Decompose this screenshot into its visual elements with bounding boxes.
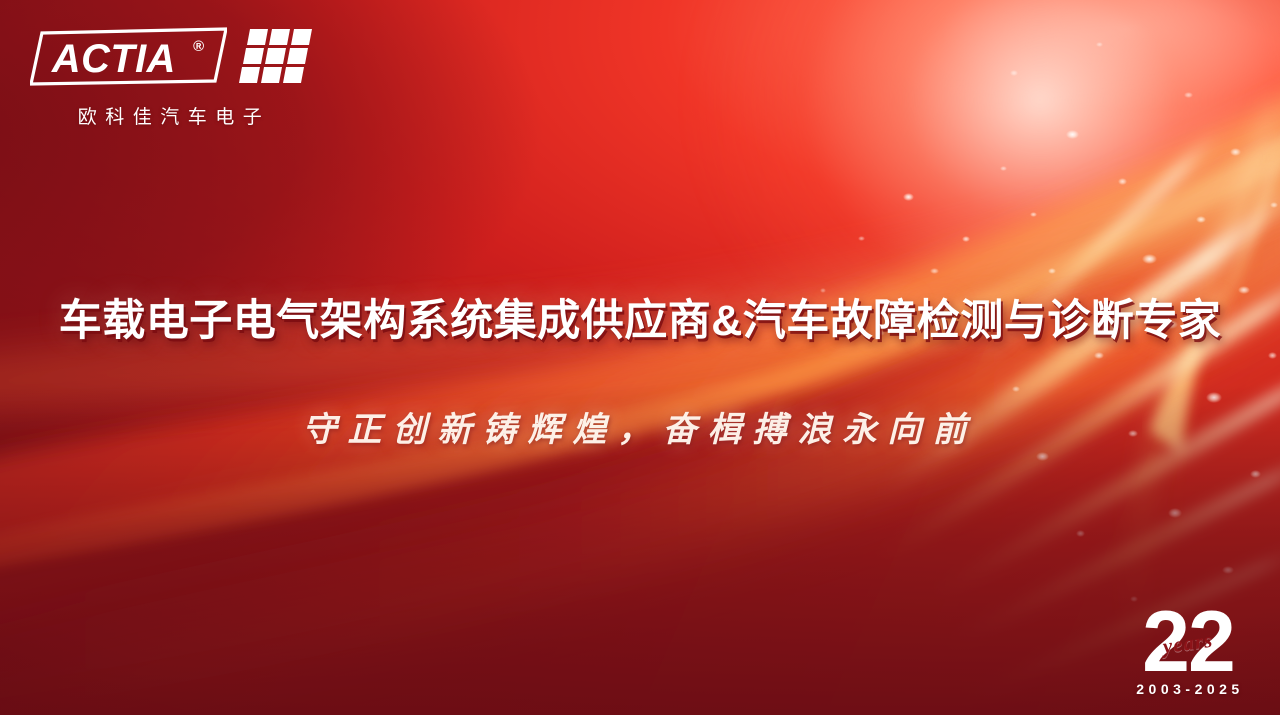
slogan-subtitle: 守正创新铸辉煌，奋楫搏浪永向前: [0, 402, 1280, 451]
svg-text:®: ®: [193, 38, 204, 55]
logo-mark: ACTIA ®: [30, 27, 312, 89]
anniversary-badge: 22 years 2003-2025: [1124, 601, 1252, 697]
brand-chinese-name: 欧科佳汽车电子: [30, 102, 312, 129]
actia-grid-icon: [236, 27, 312, 85]
anniversary-number: 22 years: [1124, 601, 1252, 675]
brand-logo[interactable]: ACTIA ®: [30, 27, 312, 129]
page-title: 车载电子电气架构系统集成供应商&汽车故障检测与诊断专家: [0, 286, 1280, 348]
banner-stage: ACTIA ®: [0, 0, 1280, 715]
actia-wordmark-plate: ACTIA ®: [30, 27, 227, 87]
svg-text:ACTIA: ACTIA: [51, 37, 176, 81]
